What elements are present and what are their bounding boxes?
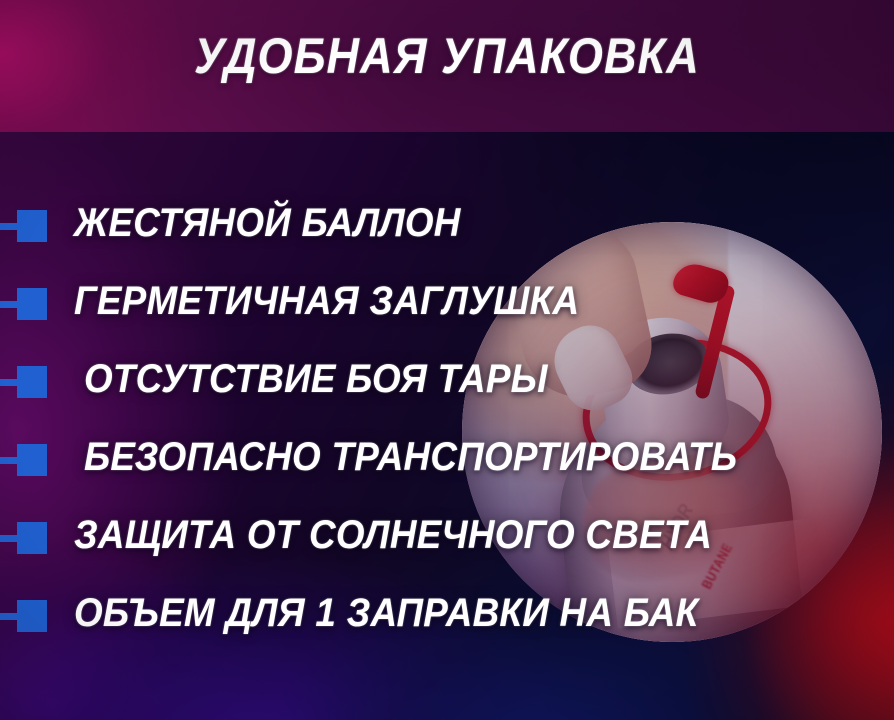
page-title: УДОБНАЯ УПАКОВКА	[45, 30, 850, 82]
feature-list: ЖЕСТЯНОЙ БАЛЛОН ГЕРМЕТИЧНАЯ ЗАГЛУШКА ОТС…	[0, 196, 894, 664]
bullet-square	[17, 210, 47, 242]
bullet-marker-icon	[0, 210, 48, 242]
list-item-label: ОТСУТСТВИЕ БОЯ ТАРЫ	[84, 356, 548, 402]
list-item: ЗАЩИТА ОТ СОЛНЕЧНОГО СВЕТА	[0, 508, 894, 586]
bullet-marker-icon	[0, 366, 48, 398]
list-item-label: ЖЕСТЯНОЙ БАЛЛОН	[74, 200, 461, 246]
bullet-square	[17, 366, 47, 398]
list-item-label: БЕЗОПАСНО ТРАНСПОРТИРОВАТЬ	[84, 434, 737, 480]
list-item: ОБЪЕМ ДЛЯ 1 ЗАПРАВКИ НА БАК	[0, 586, 894, 664]
list-item: БЕЗОПАСНО ТРАНСПОРТИРОВАТЬ	[0, 430, 894, 508]
list-item: ОТСУТСТВИЕ БОЯ ТАРЫ	[0, 352, 894, 430]
bullet-marker-icon	[0, 288, 48, 320]
list-item: ГЕРМЕТИЧНАЯ ЗАГЛУШКА	[0, 274, 894, 352]
list-item-label: ГЕРМЕТИЧНАЯ ЗАГЛУШКА	[74, 278, 579, 324]
bullet-square	[17, 522, 47, 554]
header-band: УДОБНАЯ УПАКОВКА	[0, 0, 894, 132]
bullet-marker-icon	[0, 600, 48, 632]
bullet-square	[17, 600, 47, 632]
list-item-label: ЗАЩИТА ОТ СОЛНЕЧНОГО СВЕТА	[74, 512, 712, 558]
bullet-marker-icon	[0, 444, 48, 476]
list-item-label: ОБЪЕМ ДЛЯ 1 ЗАПРАВКИ НА БАК	[74, 590, 698, 636]
bullet-square	[17, 288, 47, 320]
promo-poster: HYDR BUTANE УДОБНАЯ УПАКОВКА ЖЕСТЯНОЙ БА…	[0, 0, 894, 720]
list-item: ЖЕСТЯНОЙ БАЛЛОН	[0, 196, 894, 274]
bullet-square	[17, 444, 47, 476]
bullet-marker-icon	[0, 522, 48, 554]
